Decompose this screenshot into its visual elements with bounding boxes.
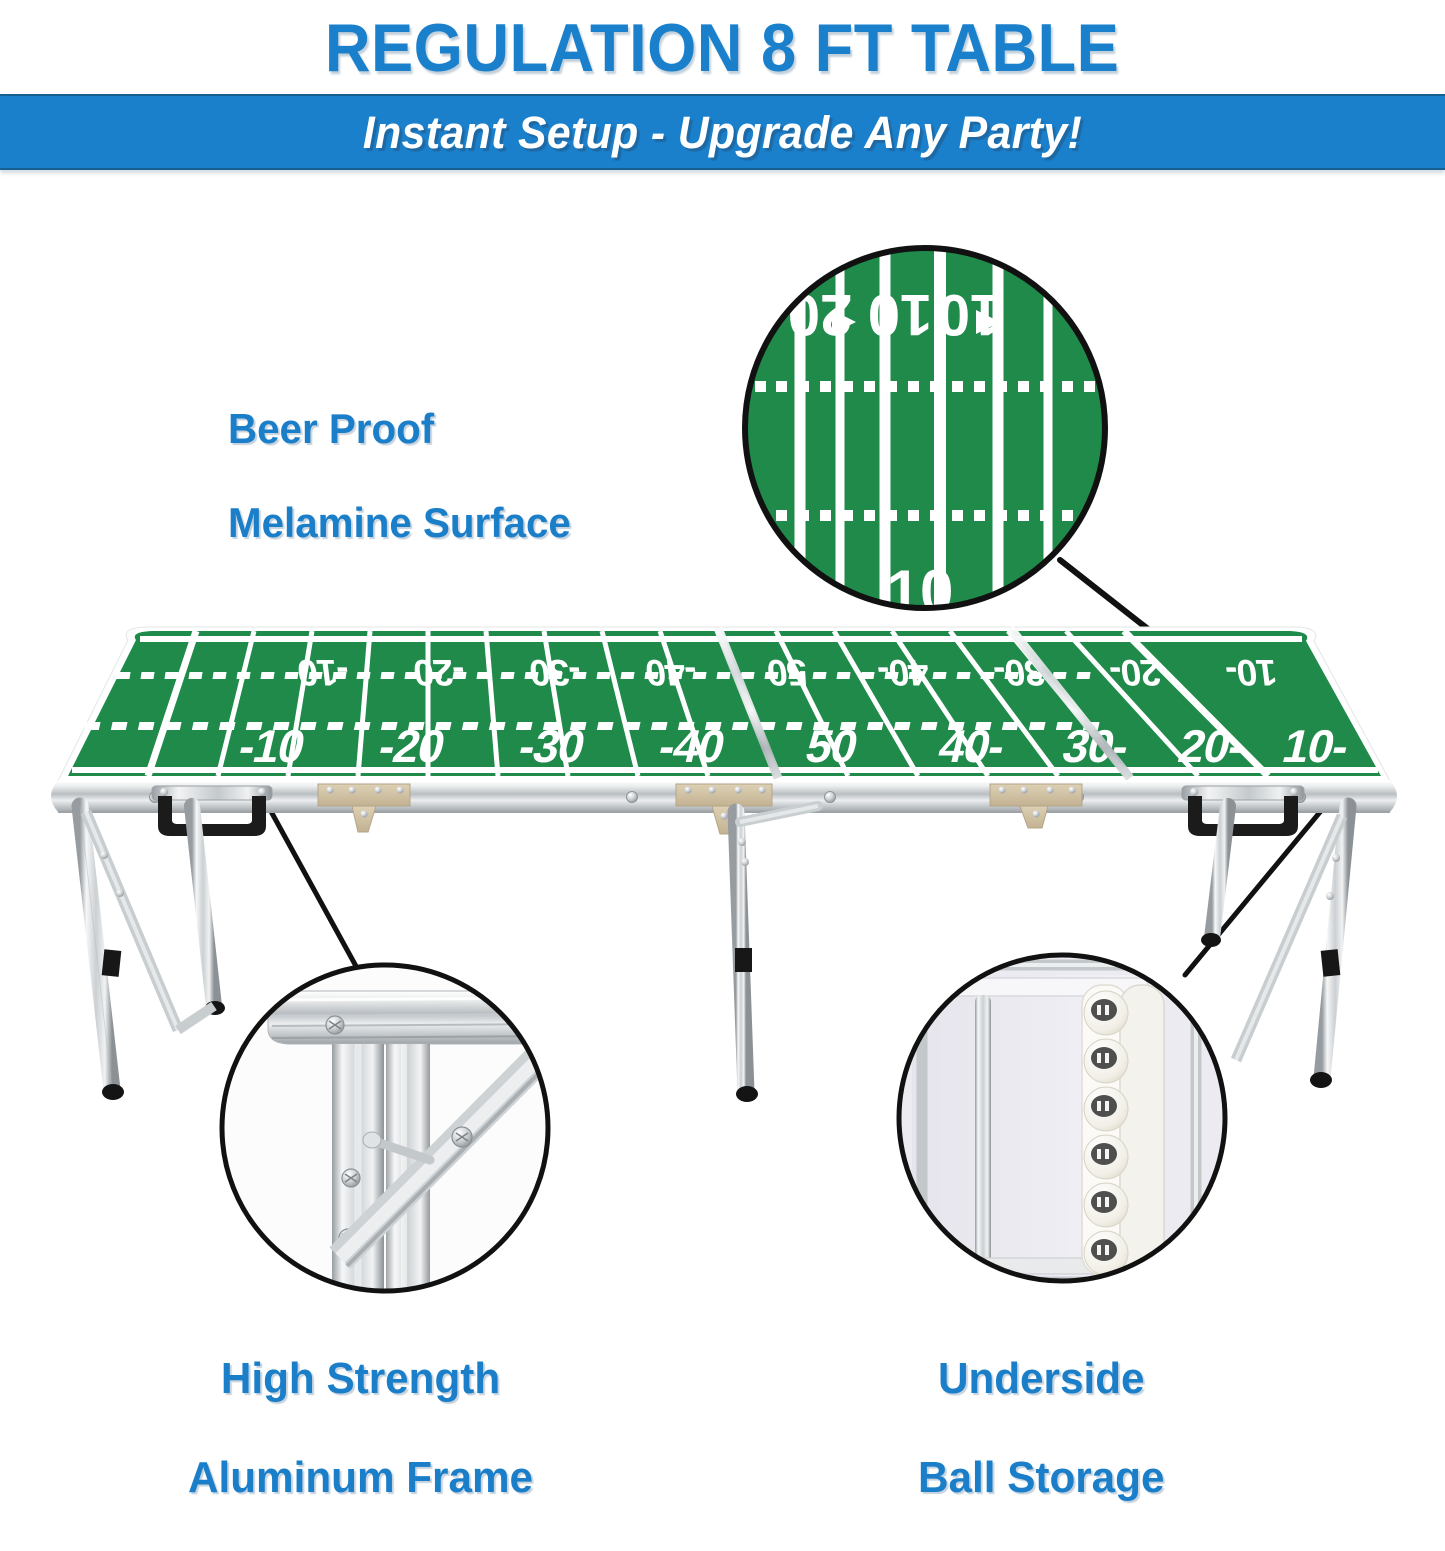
far-number-40a: -40 — [643, 652, 699, 694]
far-number-10b: 10- — [1224, 652, 1280, 694]
frame-detail-screw-4 — [452, 1127, 472, 1147]
far-number-40b: 40- — [876, 652, 932, 694]
callout-storage-line-2: Ball Storage — [918, 1453, 1164, 1502]
callout-label-aluminum-frame: High Strength Aluminum Frame — [188, 1305, 533, 1551]
table-top-surface: -10 -20 -30 -40 50 40- 30- — [30, 627, 1390, 781]
callout-label-melamine-surface: Beer Proof Melamine Surface — [228, 358, 571, 593]
table-leg-left-inner — [88, 806, 225, 1030]
magnifier-number-10a: 10 — [868, 282, 933, 347]
table-apron-rail — [51, 781, 1397, 834]
near-number-10a: -10 — [234, 721, 309, 772]
leader-line-aluminum-frame — [262, 795, 357, 968]
ping-pong-ball — [1084, 1183, 1128, 1227]
subheadline-banner: Instant Setup - Upgrade Any Party! — [0, 94, 1445, 170]
ping-pong-ball — [1084, 1087, 1128, 1131]
ping-pong-ball — [1084, 1135, 1128, 1179]
far-number-20a: -20 — [411, 652, 467, 694]
frame-detail-screw-1 — [326, 1016, 344, 1034]
callout-storage-line-1: Underside — [918, 1354, 1164, 1403]
beer-pong-table: -10 -20 -30 -40 50 40- 30- — [30, 627, 1397, 1102]
magnifier-hash-row-upper — [755, 381, 1095, 392]
yard-lines — [148, 631, 1268, 776]
far-number-10a: -10 — [295, 652, 351, 694]
hash-marks-lower — [30, 722, 1100, 730]
far-number-30a: -30 — [527, 652, 583, 694]
near-number-30a: -30 — [514, 721, 589, 772]
magnifier-ball-storage — [899, 955, 1225, 1282]
frame-detail-diagonal-brace — [340, 1052, 552, 1266]
callout-melamine-line-1: Beer Proof — [228, 405, 571, 452]
callout-label-ball-storage: Underside Ball Storage — [918, 1305, 1164, 1551]
leader-line-melamine — [1060, 560, 1199, 672]
apron-screws — [150, 792, 1306, 803]
frame-detail-leg-tubes — [332, 1044, 430, 1294]
ping-pong-ball — [1084, 991, 1128, 1035]
goal-lines — [148, 631, 1268, 776]
storage-cross-member — [975, 995, 991, 1280]
callout-frame-line-1: High Strength — [188, 1354, 533, 1403]
near-number-20a: -20 — [374, 721, 449, 772]
infographic-canvas: REGULATION 8 FT TABLE Instant Setup - Up… — [0, 0, 1445, 1405]
subheadline-text: Instant Setup - Upgrade Any Party! — [363, 110, 1082, 155]
magnifier-number-bottom-partial: 10 — [887, 558, 954, 625]
near-number-40a: -40 — [654, 721, 729, 772]
table-leg-far-left — [80, 806, 178, 1100]
ping-pong-ball — [1084, 1039, 1128, 1083]
headline-band: REGULATION 8 FT TABLE — [0, 0, 1445, 95]
frame-detail-screw-3 — [339, 1229, 357, 1247]
magnifier-number-20: 20 — [788, 282, 853, 347]
magnifier-arrow-b — [976, 310, 1000, 334]
page-title: REGULATION 8 FT TABLE — [325, 14, 1119, 82]
magnifier-aluminum-frame — [222, 965, 560, 1294]
carry-handle-right — [1182, 786, 1304, 836]
table-leg-right-inner — [1201, 806, 1228, 947]
callout-melamine-line-2: Melamine Surface — [228, 499, 571, 546]
hinge-plate-center — [676, 784, 772, 834]
near-number-10b: 10- — [1278, 721, 1353, 772]
table-panel-seams — [424, 628, 1130, 778]
magnifier-hash-row-lower — [755, 510, 1095, 521]
magnifier-number-10b: 10 — [938, 282, 1003, 347]
far-number-50: 50 — [765, 652, 810, 694]
hash-marks-upper — [92, 672, 1090, 679]
frame-detail-edge-rail — [268, 991, 560, 1044]
ping-pong-ball — [1084, 1231, 1128, 1275]
hinge-plate-right — [990, 784, 1082, 828]
frame-detail-screw-2 — [342, 1169, 360, 1187]
carry-handle-left — [152, 786, 272, 836]
hinge-plate-left — [318, 784, 410, 832]
magnifier-melamine-surface: 20 10 10 10 — [740, 243, 1115, 625]
near-number-20b: 20- — [1174, 721, 1249, 772]
ball-storage-channel — [1082, 985, 1164, 1275]
product-illustration: -10 -20 -30 -40 50 40- 30- — [0, 0, 1445, 1405]
field-numbers-far-side: -10 -20 -30 -40 50 40- 30- — [295, 652, 1279, 694]
magnifier-arrow-a — [832, 310, 856, 334]
field-numbers-near-side: -10 -20 -30 -40 50 40- 30- — [234, 721, 1353, 772]
table-leg-center — [735, 806, 818, 1102]
far-number-20b: 20- — [1108, 652, 1164, 694]
ping-pong-balls — [1084, 991, 1128, 1275]
near-number-40b: 40- — [934, 721, 1009, 772]
near-number-50: 50 — [801, 721, 862, 772]
table-leg-far-right — [1236, 806, 1348, 1088]
magnifier-yard-numbers: 20 10 10 — [788, 282, 1003, 347]
leader-line-ball-storage — [1185, 800, 1330, 975]
far-number-30b: 30- — [992, 652, 1048, 694]
callout-frame-line-2: Aluminum Frame — [188, 1453, 533, 1502]
near-number-30b: 30- — [1058, 721, 1133, 772]
